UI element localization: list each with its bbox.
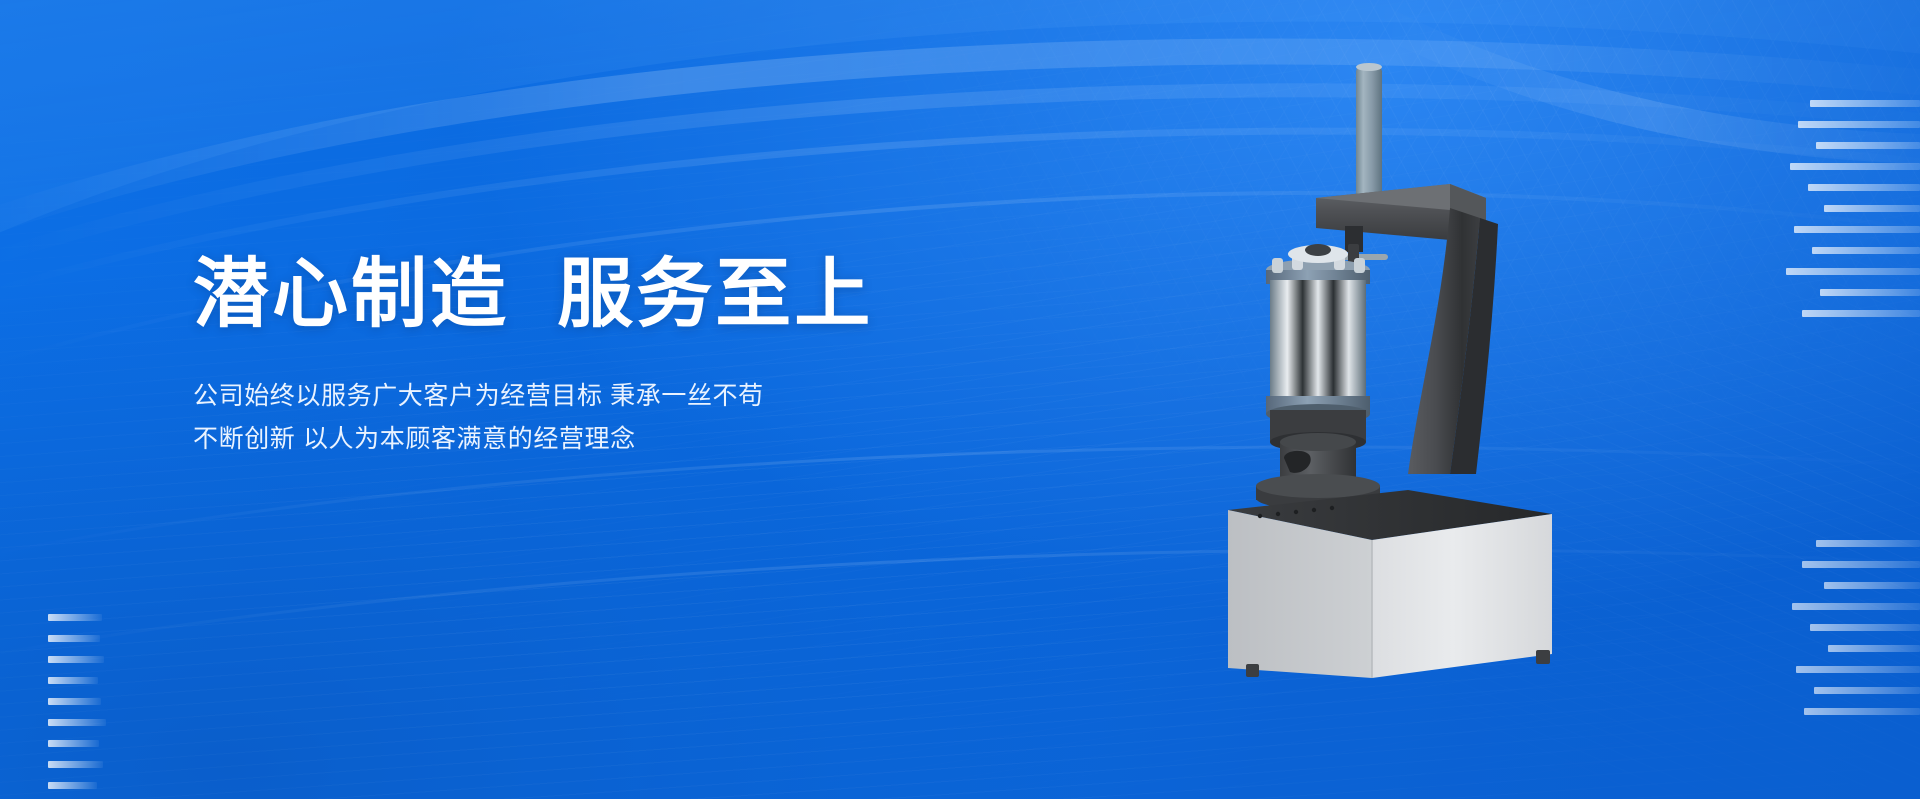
hero-headline: 潜心制造 服务至上 xyxy=(193,252,953,337)
stripe-bar xyxy=(1808,184,1920,191)
stripe-bar xyxy=(1816,540,1920,547)
machine-support-column xyxy=(1408,208,1498,474)
stripe-bar xyxy=(48,614,102,621)
product-machine-illustration xyxy=(1120,58,1640,678)
stripe-bar xyxy=(48,719,106,726)
stripe-bar xyxy=(48,635,100,642)
stripe-bar xyxy=(48,782,97,789)
machine-hub-housing xyxy=(1256,410,1380,510)
stripe-bar xyxy=(1824,582,1920,589)
stripe-bar xyxy=(48,761,103,768)
hero-subcopy-line-1: 公司始终以服务广大客户为经营目标 秉承一丝不苟 xyxy=(193,375,953,418)
stripe-ornament-right-upper xyxy=(1786,100,1920,317)
stripe-bar xyxy=(1790,163,1920,170)
stripe-bar xyxy=(1802,561,1920,568)
stripe-bar xyxy=(1798,121,1920,128)
stripe-bar xyxy=(1804,708,1920,715)
stripe-bar xyxy=(48,740,99,747)
stripe-bar xyxy=(1794,226,1920,233)
stripe-bar xyxy=(1810,100,1920,107)
stripe-bar xyxy=(1796,666,1920,673)
stripe-bar xyxy=(1824,205,1920,212)
stripe-bar xyxy=(1816,142,1920,149)
stripe-bar xyxy=(1814,687,1920,694)
stripe-bar xyxy=(1820,289,1920,296)
hero-subcopy: 公司始终以服务广大客户为经营目标 秉承一丝不苟 不断创新 以人为本顾客满意的经营… xyxy=(193,337,953,461)
stripe-ornament-left xyxy=(48,614,106,789)
stripe-ornament-right-lower xyxy=(1792,540,1920,715)
stripe-bar xyxy=(48,677,98,684)
stripe-bar xyxy=(1786,268,1920,275)
stripe-bar xyxy=(48,656,104,663)
machine-finned-cylinder xyxy=(1266,244,1370,424)
stripe-bar xyxy=(1812,247,1920,254)
hero-banner: 潜心制造 服务至上 公司始终以服务广大客户为经营目标 秉承一丝不苟 不断创新 以… xyxy=(0,0,1920,799)
hero-copy-block: 潜心制造 服务至上 公司始终以服务广大客户为经营目标 秉承一丝不苟 不断创新 以… xyxy=(193,252,953,461)
stripe-bar xyxy=(1810,624,1920,631)
machine-cabinet-base xyxy=(1228,490,1552,678)
stripe-bar xyxy=(1828,645,1920,652)
stripe-bar xyxy=(1802,310,1920,317)
hero-subcopy-line-2: 不断创新 以人为本顾客满意的经营理念 xyxy=(193,418,953,461)
stripe-bar xyxy=(48,698,101,705)
stripe-bar xyxy=(1792,603,1920,610)
